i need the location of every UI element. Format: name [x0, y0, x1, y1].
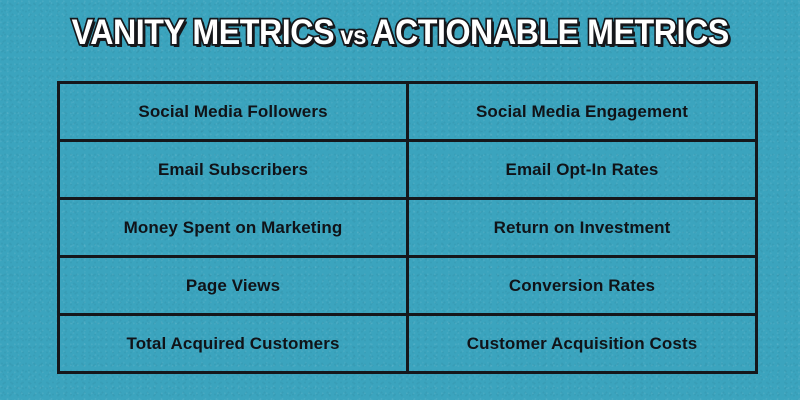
title-line: VANITY METRICS vs ACTIONABLE METRICS [71, 14, 728, 54]
metrics-comparison-table: Social Media Followers Social Media Enga… [57, 81, 758, 374]
cell-vanity-metric: Money Spent on Marketing [59, 199, 408, 257]
cell-actionable-metric: Social Media Engagement [408, 83, 757, 141]
cell-actionable-metric: Email Opt-In Rates [408, 141, 757, 199]
title-part-vanity: VANITY METRICS [71, 13, 334, 52]
poster-canvas: VANITY METRICS vs ACTIONABLE METRICS Soc… [0, 0, 800, 400]
title-part-actionable: ACTIONABLE METRICS [372, 13, 729, 52]
cell-vanity-metric: Email Subscribers [59, 141, 408, 199]
cell-vanity-metric: Page Views [59, 257, 408, 315]
title-separator-vs: vs [334, 20, 372, 50]
cell-actionable-metric: Return on Investment [408, 199, 757, 257]
table-row: Money Spent on Marketing Return on Inves… [59, 199, 757, 257]
cell-actionable-metric: Conversion Rates [408, 257, 757, 315]
cell-vanity-metric: Social Media Followers [59, 83, 408, 141]
cell-vanity-metric: Total Acquired Customers [59, 315, 408, 373]
table-row: Social Media Followers Social Media Enga… [59, 83, 757, 141]
table-row: Total Acquired Customers Customer Acquis… [59, 315, 757, 373]
table-row: Email Subscribers Email Opt-In Rates [59, 141, 757, 199]
cell-actionable-metric: Customer Acquisition Costs [408, 315, 757, 373]
page-title: VANITY METRICS vs ACTIONABLE METRICS [0, 14, 800, 54]
table-row: Page Views Conversion Rates [59, 257, 757, 315]
table-body: Social Media Followers Social Media Enga… [59, 83, 757, 373]
